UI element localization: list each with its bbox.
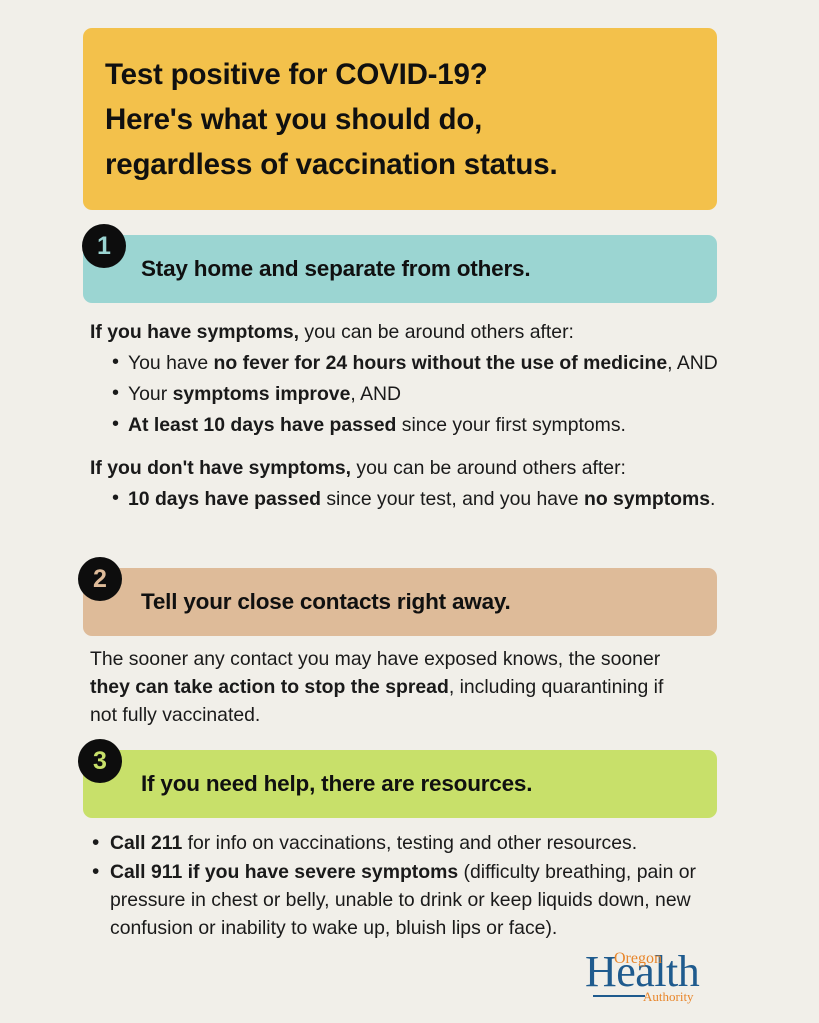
bullet-4-bold: 10 days have passed xyxy=(128,488,321,510)
step-1-bullets-1: You have no fever for 24 hours without t… xyxy=(90,349,730,439)
list-item: At least 10 days have passed since your … xyxy=(90,411,730,439)
logo-oregon-text: Oregon xyxy=(614,951,662,967)
step-3-number-badge: 3 xyxy=(78,739,122,783)
step-1-bullets-2: 10 days have passed since your test, and… xyxy=(90,485,730,513)
bullet-4-post2: . xyxy=(710,488,715,510)
step-1-lead-1: If you have symptoms, you can be around … xyxy=(90,318,730,346)
step-1-number-badge: 1 xyxy=(82,224,126,268)
step-1-lead-1-rest: you can be around others after: xyxy=(299,321,574,343)
list-item: Call 911 if you have severe symptoms (di… xyxy=(86,858,731,942)
step-2-paragraph: The sooner any contact you may have expo… xyxy=(90,645,690,729)
bullet-1-bold: no fever for 24 hours without the use of… xyxy=(214,352,668,374)
bullet-3-post: since your first symptoms. xyxy=(396,414,626,436)
infographic-page: Test positive for COVID-19? Here's what … xyxy=(0,0,819,1023)
step-1-lead-2-bold: If you don't have symptoms, xyxy=(90,457,351,479)
logo-rule xyxy=(593,995,645,997)
page-title: Test positive for COVID-19? Here's what … xyxy=(105,52,689,187)
list-item: Your symptoms improve, AND xyxy=(90,380,730,408)
list-item: 10 days have passed since your test, and… xyxy=(90,485,730,513)
step-2-bar: Tell your close contacts right away. xyxy=(83,568,717,636)
step-2-heading: Tell your close contacts right away. xyxy=(141,589,511,615)
step-2-content: The sooner any contact you may have expo… xyxy=(90,645,690,731)
step-3-heading: If you need help, there are resources. xyxy=(141,771,532,797)
bullet-211-post: for info on vaccinations, testing and ot… xyxy=(182,832,637,854)
bullet-1-pre: You have xyxy=(128,352,214,374)
step-3-bullets: Call 211 for info on vaccinations, testi… xyxy=(86,829,731,943)
step-2-paragraph-bold: they can take action to stop the spread xyxy=(90,676,449,698)
step-3-bar: If you need help, there are resources. xyxy=(83,750,717,818)
bullet-211-bold: Call 211 xyxy=(110,832,182,854)
bullet-3-bold: At least 10 days have passed xyxy=(128,414,396,436)
step-1-lead-2: If you don't have symptoms, you can be a… xyxy=(90,454,730,482)
step-1-bar: Stay home and separate from others. xyxy=(83,235,717,303)
bullet-4-post: since your test, and you have xyxy=(321,488,584,510)
step-1-lead-2-rest: you can be around others after: xyxy=(351,457,626,479)
oregon-health-authority-logo: Health Oregon Authority xyxy=(585,950,717,1006)
bullet-1-post: , AND xyxy=(667,352,718,374)
step-2-paragraph-pre: The sooner any contact you may have expo… xyxy=(90,648,660,670)
logo-authority-text: Authority xyxy=(643,990,694,1003)
step-1-lead-1-bold: If you have symptoms, xyxy=(90,321,299,343)
list-item: You have no fever for 24 hours without t… xyxy=(90,349,730,377)
step-3-content: Call 211 for info on vaccinations, testi… xyxy=(86,828,731,944)
list-item: Call 211 for info on vaccinations, testi… xyxy=(86,829,731,857)
title-banner: Test positive for COVID-19? Here's what … xyxy=(83,28,717,210)
bullet-2-post: , AND xyxy=(350,383,401,405)
bullet-4-bold2: no symptoms xyxy=(584,488,710,510)
bullet-911-bold: Call 911 if you have severe symptoms xyxy=(110,861,458,883)
step-1-content: If you have symptoms, you can be around … xyxy=(90,318,730,516)
step-1-heading: Stay home and separate from others. xyxy=(141,256,530,282)
bullet-2-pre: Your xyxy=(128,383,173,405)
bullet-2-bold: symptoms improve xyxy=(173,383,351,405)
step-2-number-badge: 2 xyxy=(78,557,122,601)
